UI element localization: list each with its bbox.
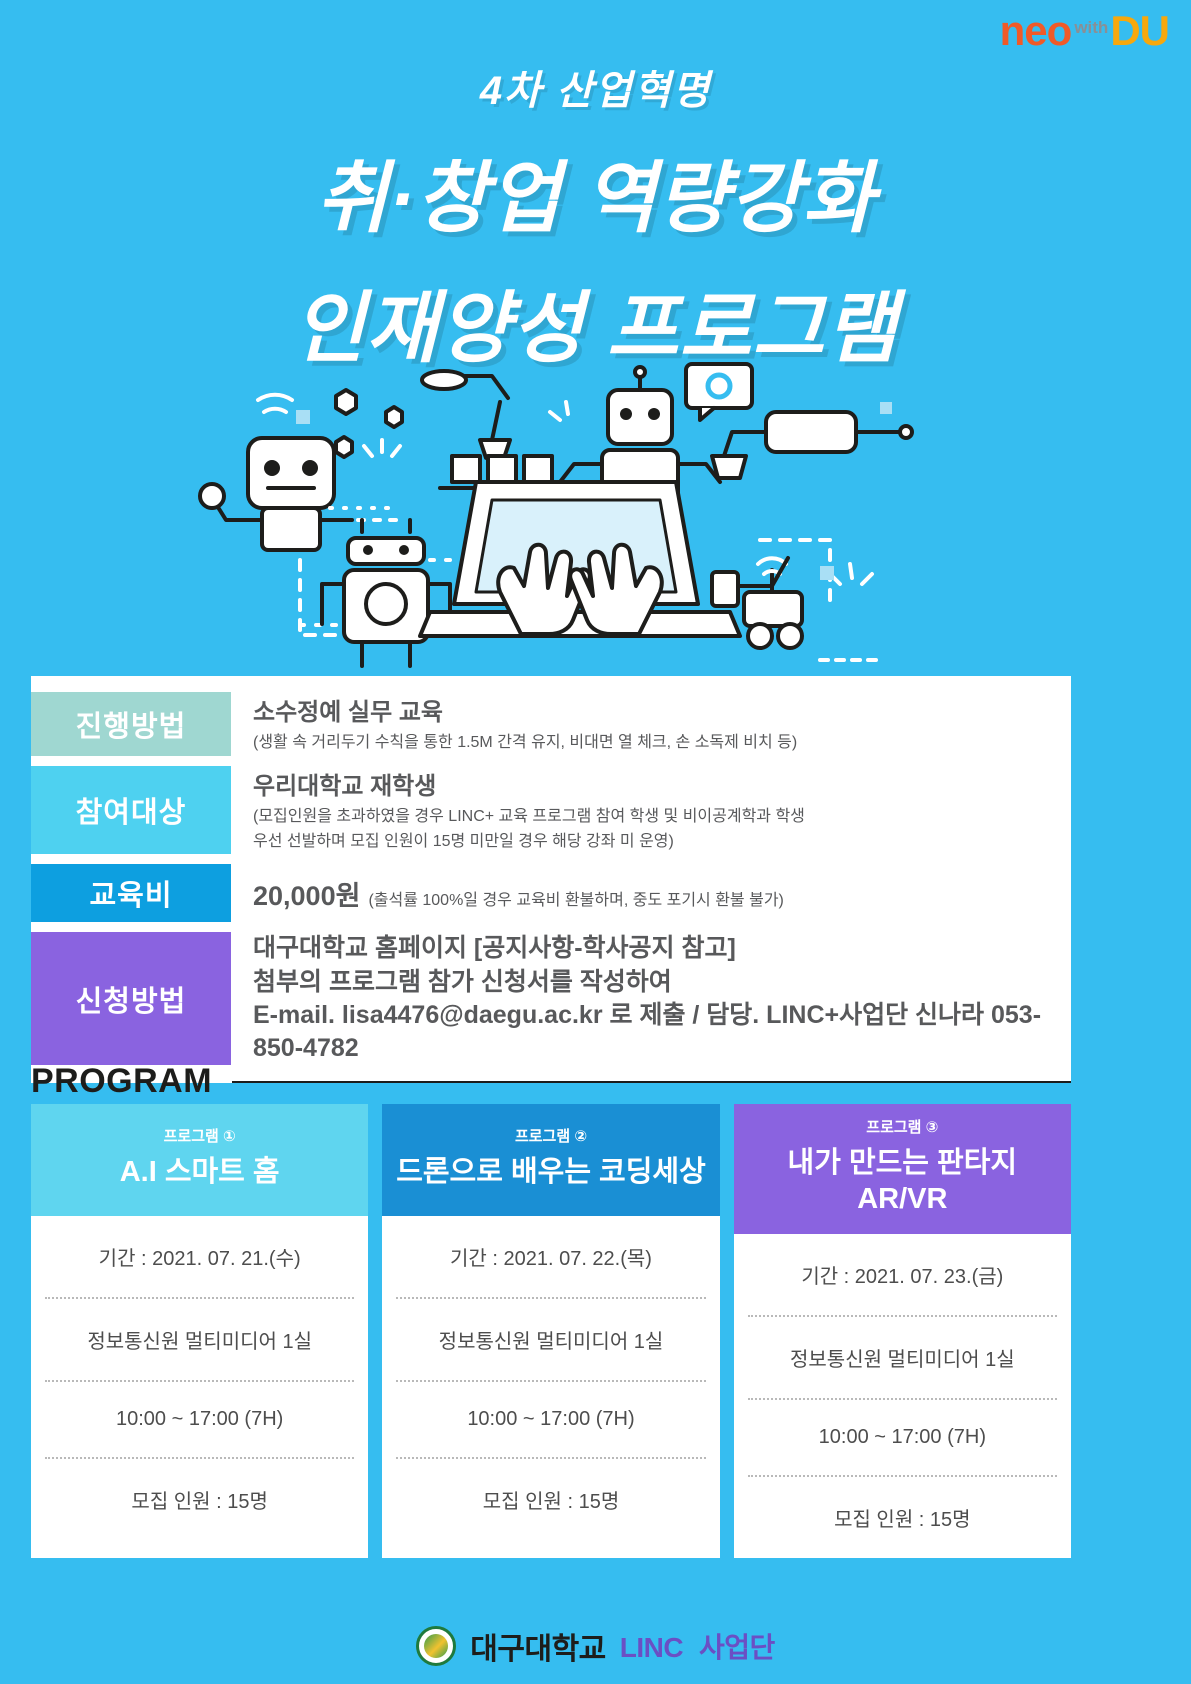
apply-line-1: 대구대학교 홈페이지 [공지사항-학사공지 참고] bbox=[253, 932, 1071, 965]
university-emblem-icon bbox=[416, 1626, 456, 1666]
fee-line: 20,000원 (출석률 100%일 경우 교육비 환불하며, 중도 포기시 환… bbox=[253, 874, 1071, 913]
info-sub-audience-line-2: 우선 선발하며 모집 인원이 15명 미만일 경우 해당 강좌 미 운영) bbox=[253, 830, 1071, 855]
program-card-3-place: 정보통신원 멀티미디어 1실 bbox=[748, 1317, 1057, 1400]
program-card-2-place: 정보통신원 멀티미디어 1실 bbox=[396, 1299, 705, 1382]
info-row-fee: 교육비 20,000원 (출석률 100%일 경우 교육비 환불하며, 중도 포… bbox=[31, 864, 1071, 922]
program-card-2-title: 드론으로 배우는 코딩세상 bbox=[390, 1154, 711, 1190]
logo-du-text: DU bbox=[1110, 10, 1169, 52]
program-card-1-time: 10:00 ~ 17:00 (7H) bbox=[45, 1382, 354, 1459]
poster-footer: 대구대학교 LINC+사업단 bbox=[0, 1624, 1191, 1668]
university-emblem-inner bbox=[424, 1634, 448, 1658]
info-body-method: 소수정예 실무 교육 (생활 속 거리두기 수칙을 통한 1.5M 간격 유지,… bbox=[231, 692, 1071, 756]
program-card-2[interactable]: 프로그램 ② 드론으로 배우는 코딩세상 기간 : 2021. 07. 22.(… bbox=[382, 1104, 719, 1558]
info-panel: 진행방법 소수정예 실무 교육 (생활 속 거리두기 수칙을 통한 1.5M 간… bbox=[31, 676, 1071, 1083]
info-sub-method: (생활 속 거리두기 수칙을 통한 1.5M 간격 유지, 비대면 열 체크, … bbox=[253, 731, 1071, 756]
program-card-2-time: 10:00 ~ 17:00 (7H) bbox=[396, 1382, 705, 1459]
info-tag-apply: 신청방법 bbox=[31, 932, 231, 1065]
footer-linc-suffix: 사업단 bbox=[699, 1632, 775, 1663]
program-card-3-date: 기간 : 2021. 07. 23.(금) bbox=[748, 1234, 1057, 1317]
program-cards: 프로그램 ① A.I 스마트 홈 기간 : 2021. 07. 21.(수) 정… bbox=[31, 1104, 1071, 1558]
info-tag-audience: 참여대상 bbox=[31, 766, 231, 855]
program-card-2-rows: 기간 : 2021. 07. 22.(목) 정보통신원 멀티미디어 1실 10:… bbox=[382, 1216, 719, 1540]
info-title-method: 소수정예 실무 교육 bbox=[253, 692, 1071, 727]
info-row-method: 진행방법 소수정예 실무 교육 (생활 속 거리두기 수칙을 통한 1.5M 간… bbox=[31, 692, 1071, 756]
fee-note: (출석률 100%일 경우 교육비 환불하며, 중도 포기시 환불 불가) bbox=[368, 886, 783, 910]
program-card-1-capacity: 모집 인원 : 15명 bbox=[45, 1459, 354, 1540]
apply-line-3-email: E-mail. lisa4476@daegu.ac.kr 로 제출 / 담당. … bbox=[253, 999, 1071, 1066]
program-card-3-time: 10:00 ~ 17:00 (7H) bbox=[748, 1400, 1057, 1477]
program-card-1-place: 정보통신원 멀티미디어 1실 bbox=[45, 1299, 354, 1382]
headline-kicker: 4차 산업혁명 bbox=[0, 58, 1191, 116]
program-card-2-date: 기간 : 2021. 07. 22.(목) bbox=[396, 1216, 705, 1299]
program-card-2-eyebrow: 프로그램 ② bbox=[390, 1125, 711, 1146]
program-section-header: PROGRAM bbox=[31, 1062, 1071, 1101]
program-card-3-rows: 기간 : 2021. 07. 23.(금) 정보통신원 멀티미디어 1실 10:… bbox=[734, 1234, 1071, 1558]
program-card-3-head: 프로그램 ③ 내가 만드는 판타지 AR/VR bbox=[734, 1104, 1071, 1234]
info-body-fee: 20,000원 (출석률 100%일 경우 교육비 환불하며, 중도 포기시 환… bbox=[231, 864, 1071, 922]
program-card-1-head: 프로그램 ① A.I 스마트 홈 bbox=[31, 1104, 368, 1216]
program-card-3-title: 내가 만드는 판타지 AR/VR bbox=[742, 1145, 1063, 1218]
program-card-1[interactable]: 프로그램 ① A.I 스마트 홈 기간 : 2021. 07. 21.(수) 정… bbox=[31, 1104, 368, 1558]
program-card-2-capacity: 모집 인원 : 15명 bbox=[396, 1459, 705, 1540]
headline-line-1: 취·창업 역량강화 bbox=[0, 136, 1191, 248]
illustration-svg bbox=[0, 360, 1191, 680]
poster-headline: 4차 산업혁명 취·창업 역량강화 인재양성 프로그램 bbox=[0, 58, 1191, 378]
program-card-3-capacity: 모집 인원 : 15명 bbox=[748, 1477, 1057, 1558]
info-row-apply: 신청방법 대구대학교 홈페이지 [공지사항-학사공지 참고] 첨부의 프로그램 … bbox=[31, 932, 1071, 1065]
footer-linc-logo: LINC+사업단 bbox=[620, 1626, 775, 1666]
info-tag-method: 진행방법 bbox=[31, 692, 231, 756]
robotics-illustration bbox=[0, 360, 1191, 680]
program-card-1-rows: 기간 : 2021. 07. 21.(수) 정보통신원 멀티미디어 1실 10:… bbox=[31, 1216, 368, 1540]
program-card-3-eyebrow: 프로그램 ③ bbox=[742, 1116, 1063, 1137]
info-tag-fee: 교육비 bbox=[31, 864, 231, 922]
info-body-audience: 우리대학교 재학생 (모집인원을 초과하였을 경우 LINC+ 교육 프로그램 … bbox=[231, 766, 1071, 855]
footer-linc-prefix: LINC bbox=[620, 1632, 683, 1663]
fee-amount: 20,000원 bbox=[253, 874, 360, 913]
program-card-2-head: 프로그램 ② 드론으로 배우는 코딩세상 bbox=[382, 1104, 719, 1216]
program-divider bbox=[232, 1081, 1071, 1083]
info-title-audience: 우리대학교 재학생 bbox=[253, 766, 1071, 801]
program-card-1-date: 기간 : 2021. 07. 21.(수) bbox=[45, 1216, 354, 1299]
info-body-apply: 대구대학교 홈페이지 [공지사항-학사공지 참고] 첨부의 프로그램 참가 신청… bbox=[231, 932, 1071, 1065]
program-heading: PROGRAM bbox=[31, 1062, 212, 1101]
logo-with-text: with bbox=[1074, 19, 1108, 36]
footer-linc-plus: + bbox=[683, 1632, 699, 1663]
footer-university-name: 대구대학교 bbox=[470, 1624, 606, 1668]
program-card-1-title: A.I 스마트 홈 bbox=[39, 1154, 360, 1190]
info-sub-audience-line-1: (모집인원을 초과하였을 경우 LINC+ 교육 프로그램 참여 학생 및 비이… bbox=[253, 805, 1071, 830]
apply-line-2: 첨부의 프로그램 참가 신청서를 작성하여 bbox=[253, 966, 1071, 999]
info-row-audience: 참여대상 우리대학교 재학생 (모집인원을 초과하였을 경우 LINC+ 교육 … bbox=[31, 766, 1071, 855]
program-card-3[interactable]: 프로그램 ③ 내가 만드는 판타지 AR/VR 기간 : 2021. 07. 2… bbox=[734, 1104, 1071, 1558]
program-card-1-eyebrow: 프로그램 ① bbox=[39, 1125, 360, 1146]
logo-neo-text: neo bbox=[1000, 10, 1072, 52]
neo-with-du-logo: neo with DU bbox=[1000, 10, 1169, 52]
